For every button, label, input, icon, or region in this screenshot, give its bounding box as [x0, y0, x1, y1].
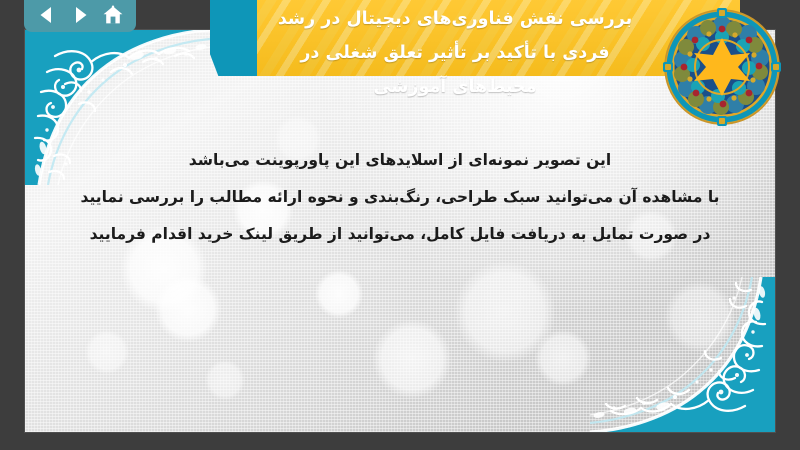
persian-shamseh-medallion [663, 8, 781, 126]
body-line-1: این تصویر نمونه‌ای از اسلایدهای این پاور… [80, 142, 720, 179]
arabesque-corner-flourish-bottom-right [590, 277, 775, 432]
home-button[interactable] [100, 3, 126, 27]
title-banner [210, 0, 740, 76]
body-line-2: با مشاهده آن می‌توانید سبک طراحی، رنگ‌بن… [80, 179, 720, 216]
previous-slide-button[interactable] [34, 3, 60, 27]
slide-body-text: این تصویر نمونه‌ای از اسلایدهای این پاور… [80, 142, 720, 253]
body-line-3: در صورت تمایل به دریافت فایل کامل، می‌تو… [80, 216, 720, 253]
next-slide-button[interactable] [67, 3, 93, 27]
presentation-viewer: این تصویر نمونه‌ای از اسلایدهای این پاور… [0, 0, 800, 450]
banner-teal-tab [210, 0, 262, 76]
slide-navigation-bar [24, 0, 136, 32]
